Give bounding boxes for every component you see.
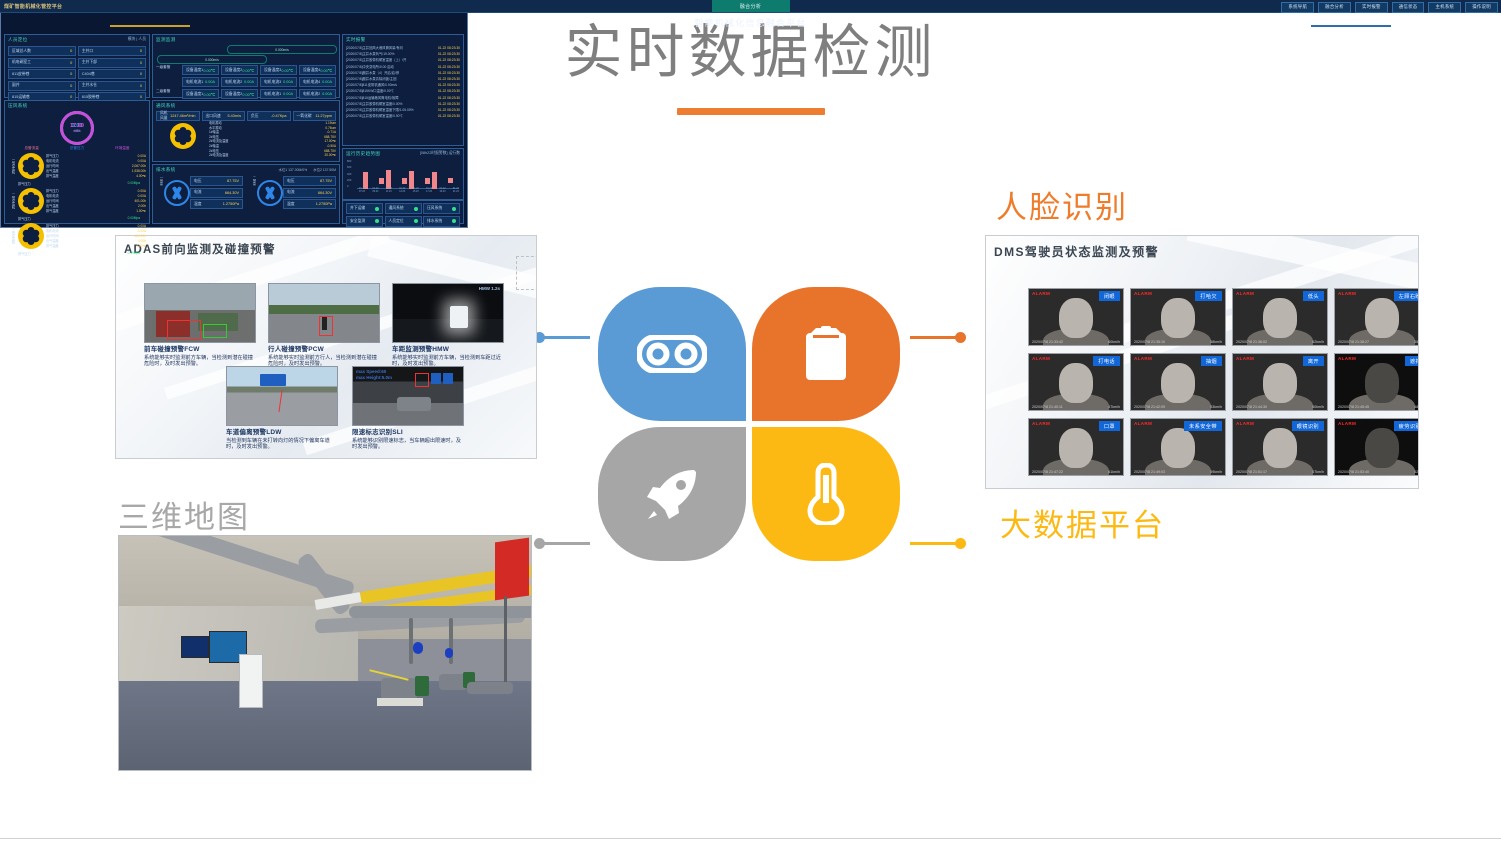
airflow-cell: 设备温度20.00℃ — [221, 89, 258, 99]
subsystem-status-item[interactable]: 通风系统 — [385, 203, 422, 214]
dms-thumbnail[interactable]: ALARM疲劳识别2020/07/8 21:53:4052km/h — [1334, 418, 1419, 476]
adas-item: 前车碰撞预警FCW 系统能够实时监测前方车辆，当检测到潜在碰撞危险时，及时发出预… — [144, 283, 256, 368]
pump-metric: 电压87.75V — [283, 176, 336, 186]
personnel-value: 0 — [140, 84, 142, 88]
alarm-label: ALARM — [1032, 421, 1050, 426]
petal-logo — [598, 287, 903, 564]
pump-name: 一号泵 — [156, 176, 164, 186]
airflow-cell: 设备温度40.00℃ — [299, 65, 336, 75]
personnel-value: 0 — [70, 72, 72, 76]
airflow-row: 二级套管设备温度10.00℃设备温度20.00℃电机电流10.00A电机电流20… — [156, 89, 336, 99]
cassette-icon — [637, 335, 707, 373]
adas-description: 当检测到车辆在未打转向灯的情况下偏离车道时，及时发出预警。 — [226, 438, 338, 451]
history-chart: 8006004002000 01-22 07:2301-22 09:2301-2… — [347, 160, 459, 195]
drain-tag: 水位2 137.50M — [313, 167, 336, 172]
status-dot — [414, 207, 418, 211]
dms-thumbnail[interactable]: ALARM低头2020/07/8 21:36:0262km/h — [1232, 288, 1328, 346]
subsystem-name: 通风系统 — [389, 206, 404, 211]
alarm-label: ALARM — [1236, 356, 1254, 361]
dashboard-nav-item[interactable]: 操作说明 — [1465, 2, 1498, 13]
panel-title: 运行历史趋势图 — [346, 151, 380, 157]
rocket-icon — [644, 466, 700, 522]
panel-ventilation: 通风系统 风机风量1247.46m³/min出口风速5.43m/s负压-0.47… — [152, 100, 340, 162]
dms-speed: 57km/h — [1312, 470, 1324, 474]
dms-event-badge: 遮挡 — [1405, 356, 1419, 366]
gauge-label: 总管压力 — [55, 146, 99, 151]
dms-timestamp: 2020/07/8 21:38:27 — [1338, 340, 1369, 344]
alarm-message: [2020/07/8]主井胶带机硐室温度/0.00℃ — [346, 113, 403, 119]
gauge-unit: ℃ — [75, 129, 79, 133]
dashboard-nav-item[interactable]: 系统导航 — [1281, 2, 1314, 13]
status-dot — [452, 219, 456, 223]
dms-thumbnail[interactable]: ALARM打电话2020/07/8 21:40:1147km/h — [1028, 353, 1124, 411]
subsystem-status-item[interactable]: 压风系统 — [423, 203, 460, 214]
airflow-cell: 电机电流30.00A — [260, 77, 297, 87]
chart-y-tick: 600 — [347, 166, 351, 169]
personnel-row: 区域总人数0 — [8, 46, 76, 56]
thermometer-petal[interactable] — [752, 427, 900, 561]
alarm-label: ALARM — [1338, 421, 1356, 426]
section-heading-face: 人脸识别 — [996, 182, 1128, 227]
personnel-key: C404巷 — [82, 72, 95, 77]
airflow-cell: 电机电流10.00A — [260, 89, 297, 99]
compressor-metric: 排气温度1.00℃ — [46, 209, 146, 214]
dashboard-nav-item[interactable]: 主机系统 — [1428, 2, 1461, 13]
personnel-value: 0 — [70, 49, 72, 53]
slide-root: 实时数据检测 车辆管理 人脸识别 三维地图 大数据平台 — [0, 0, 1501, 842]
compressor-unit: 一号空压机排气压力0.00A电机电流0.00A运行时间2,067.00h出气温度… — [8, 153, 146, 179]
personnel-key: 区域总人数 — [12, 49, 31, 54]
subsystem-name: 压风系统 — [427, 206, 442, 211]
gauge-label: 环境温度 — [100, 146, 144, 151]
personnel-row: 主井口0 — [78, 46, 146, 56]
dms-event-badge: 打哈欠 — [1195, 291, 1222, 301]
personnel-key: 主井水仓 — [82, 83, 97, 88]
personnel-key: 811皮带巷 — [12, 72, 29, 77]
airflow-cell: 设备温度10.00℃ — [182, 65, 219, 75]
airflow-cell: 电机电流20.00A — [299, 89, 336, 99]
status-dot — [414, 219, 418, 223]
connector-face — [910, 336, 962, 339]
dms-timestamp: 2020/07/8 21:36:02 — [1236, 340, 1267, 344]
pump-name: 二号泵 — [249, 176, 257, 186]
chart-x-tick: 01-22 19:23 — [439, 187, 445, 195]
panel-monitoring: 监测监测 0.000m/s 0.000m/s 一级套管设备温度10.00℃设备温… — [152, 34, 340, 98]
dms-event-badge: 口罩 — [1099, 421, 1120, 431]
adas-caption: 车道偏离预警LDW — [226, 429, 338, 437]
dashboard-center-tab[interactable]: 融合分析 — [712, 0, 790, 12]
connector-vehicle — [538, 336, 590, 339]
dms-timestamp: 2020/07/8 21:40:11 — [1032, 405, 1063, 409]
dms-event-badge: 离开 — [1303, 356, 1324, 366]
chart-y-tick: 800 — [347, 160, 351, 163]
pump-metric: 温度1.2750Pa — [190, 199, 243, 209]
alarm-label: ALARM — [1032, 291, 1050, 296]
chart-x-tick: 01-22 15:23 — [413, 187, 419, 195]
dashboard-topbar: 煤矿智能机械化管控平台 融合分析 系统导航融合分析实时报警通信状态主机系统操作说… — [0, 0, 1501, 13]
airflow-row-label — [156, 77, 180, 87]
status-dot — [452, 207, 456, 211]
chart-bar — [381, 178, 384, 184]
drain-tag: 水位1 137.00M/0% — [279, 167, 308, 172]
vent-header-cell: 一氧化碳11.27ppm — [293, 111, 337, 121]
adas-thumb-image — [268, 283, 380, 343]
airflow-cell: 电机电流10.00A — [182, 77, 219, 87]
dms-timestamp: 2020/07/8 21:53:40 — [1338, 470, 1369, 474]
compressor-fan-icon — [18, 223, 44, 249]
compressor-footer: 排气压力0.00Mpa — [8, 216, 146, 223]
subsystem-name: 安全监测 — [350, 219, 365, 224]
pump-fan-icon — [257, 180, 283, 206]
panel-drainage: 排水系统 水位1 137.00M/0%水位2 137.50M 一号泵电压87.7… — [152, 164, 340, 224]
adas-item: 行人碰撞预警PCW 系统能够实时监测前方行人，当检测到潜在碰撞危险时，及时发出预… — [268, 283, 380, 368]
adas-item: HMW 1.2s 车距监测预警HMW 系统能够实时监测前方车辆，当检测到车距过近… — [392, 283, 504, 368]
driver-face — [1161, 428, 1195, 468]
dms-timestamp: 2020/07/8 21:45:45 — [1338, 405, 1369, 409]
panel-subsystem-status: 井下运输通风系统压风系统安全监测人员定位排水系统 — [342, 200, 464, 224]
dashboard-nav-list: 系统导航融合分析实时报警通信状态主机系统操作说明 — [1281, 2, 1498, 13]
pump-fan-icon — [164, 180, 190, 206]
panel-history-chart: 运行历史趋势图 [08h22时报警数] 运行数 8006004002000 01… — [342, 148, 464, 200]
personnel-value: 0 — [140, 49, 142, 53]
adas-overlay-height: max Height:5.0m — [356, 375, 392, 380]
dms-thumbnail[interactable]: ALARM眼镜识别2020/07/8 21:51:1757km/h — [1232, 418, 1328, 476]
adas-caption: 限速标志识别SLI — [352, 429, 464, 437]
dms-timestamp: 2020/07/8 21:49:03 — [1134, 470, 1165, 474]
dms-event-badge: 眼镜识别 — [1292, 421, 1324, 431]
alarm-label: ALARM — [1338, 356, 1356, 361]
driver-face — [1365, 298, 1399, 338]
panel-title: 实时报警 — [346, 37, 366, 43]
dashboard-nav-item[interactable]: 实时报警 — [1355, 2, 1388, 13]
connector-dot-bigdata — [955, 538, 966, 549]
personnel-key: 815运输巷 — [12, 95, 30, 100]
airflow-cell: 电机电流20.00A — [221, 77, 258, 87]
driver-face — [1059, 363, 1093, 403]
dms-thumbnail[interactable]: ALARM口罩2020/07/8 21:47:2261km/h — [1028, 418, 1124, 476]
adas-item: max Speed:60 max Height:5.0m 限速标志识别SLI 系… — [352, 366, 464, 451]
driver-face — [1263, 428, 1297, 468]
rocket-petal[interactable] — [598, 427, 746, 561]
panel-tag: 模块 | 人员 — [128, 37, 146, 42]
alarm-label: ALARM — [1134, 356, 1152, 361]
subsystem-name: 排水系统 — [427, 219, 442, 224]
pump-metric: 电流664.30V — [190, 188, 243, 198]
connector-map — [538, 542, 590, 545]
airflow-row: 一级套管设备温度10.00℃设备温度20.00℃设备温度30.00℃设备温度40… — [156, 65, 336, 75]
driver-face — [1263, 363, 1297, 403]
chart-x-tick: 01-22 17:23 — [426, 187, 432, 195]
personnel-row: 副井0 — [8, 81, 76, 91]
dms-speed: 48km/h — [1414, 405, 1419, 409]
fan-icon — [170, 123, 196, 149]
dashboard-nav-item[interactable]: 融合分析 — [1318, 2, 1351, 13]
dms-speed: 52km/h — [1414, 470, 1419, 474]
personnel-row: C404巷0 — [78, 69, 146, 79]
airflow-cell: 设备温度10.00℃ — [182, 89, 219, 99]
driver-face — [1365, 428, 1399, 468]
vent-header-cell: 出口风速5.43m/s — [202, 111, 246, 121]
compressor-footer: 排气压力0.19Mpa — [8, 251, 146, 258]
dms-timestamp: 2020/07/8 21:35:10 — [1134, 340, 1165, 344]
chart-x-tick: 01-22 11:23 — [386, 187, 392, 195]
personnel-value: 0 — [70, 61, 72, 65]
airflow-speed-right: 0.000m/s — [227, 45, 337, 54]
personnel-value: 0 — [70, 95, 72, 99]
connector-bigdata — [910, 542, 962, 545]
panel-title: 人员定位 — [8, 37, 28, 43]
adas-item: 车道偏离预警LDW 当检测到车辆在未打转向灯的情况下偏离车道时，及时发出预警。 — [226, 366, 338, 451]
personnel-row: 机电硐室工0 — [8, 58, 76, 68]
driver-face — [1161, 363, 1195, 403]
subsystem-status-item[interactable]: 排水系统 — [423, 216, 460, 227]
personnel-value: 0 — [140, 61, 142, 65]
dms-event-badge: 低头 — [1303, 291, 1324, 301]
chart-bar — [389, 170, 392, 188]
pump-metric: 温度1.2750Pa — [283, 199, 336, 209]
personnel-key: 815胶带巷 — [82, 95, 100, 100]
alarm-log-table[interactable]: [2020/07/8]主井回风大巷风筒风量/有问01-22 08:23:30[2… — [346, 45, 460, 119]
status-dot — [375, 207, 379, 211]
personnel-row: 811皮带巷0 — [8, 69, 76, 79]
personnel-row: 主井下部0 — [78, 58, 146, 68]
adas-description: 系统能够识别限速标志，当车辆超出限速时，及时发出预警。 — [352, 438, 464, 451]
personnel-value: 0 — [70, 84, 72, 88]
adas-overlay-speed: max Speed:60 — [356, 369, 386, 374]
dms-timestamp: 2020/07/8 21:44:30 — [1236, 405, 1267, 409]
personnel-key: 机电硐室工 — [12, 60, 31, 65]
drain-pump: 一号泵电压87.75V电流664.30V温度1.2750Pa — [156, 176, 243, 211]
chart-legend: [08h22时报警数] 运行数 — [420, 151, 460, 156]
driver-face — [1365, 363, 1399, 403]
section-heading-bigdata: 大数据平台 — [1000, 500, 1165, 545]
slide-bottom-rule — [0, 838, 1501, 839]
dms-thumbnail[interactable]: ALARM离开2020/07/8 21:44:3050km/h — [1232, 353, 1328, 411]
adas-dashed-placeholder — [516, 256, 537, 290]
personnel-key: 主井口 — [82, 49, 93, 54]
driver-face — [1059, 298, 1093, 338]
subsystem-status-item[interactable]: 人员定位 — [385, 216, 422, 227]
dms-event-badge: 疲劳识别 — [1394, 421, 1419, 431]
chart-x-tick: 01-22 07:23 — [359, 187, 365, 195]
dms-event-badge: 闭眼 — [1099, 291, 1120, 301]
bigdata-dashboard-card: 煤矿智能机械化管控平台 融合分析 系统导航融合分析实时报警通信状态主机系统操作说… — [0, 0, 468, 228]
panel-compressed-air: 压风系统 0.00m3/h0.00MPa17.00℃ 总管流量总管压力环境温度 … — [4, 100, 150, 224]
dms-thumbnail[interactable]: ALARM左顾右盼2020/07/8 21:38:2755km/h — [1334, 288, 1419, 346]
clipboard-icon — [804, 326, 848, 382]
panel-title: 通风系统 — [156, 103, 176, 109]
adas-card-title: ADAS前向监测及碰撞预警 — [124, 241, 276, 257]
adas-screenshot-card: ADAS前向监测及碰撞预警 前车碰撞预警FCW 系统能够实时监测前方车辆，当检测… — [115, 235, 537, 459]
adas-caption: 前车碰撞预警FCW — [144, 346, 256, 354]
compressor-unit: 二号空压机排气压力0.00A电机电流0.00A运行时间401.00h出气温度2.… — [8, 188, 146, 214]
dms-speed: 55km/h — [1414, 340, 1419, 344]
alarm-label: ALARM — [1134, 291, 1152, 296]
dashboard-logo: 煤矿智能机械化管控平台 — [4, 3, 62, 10]
airflow-speed-left: 0.000m/s — [157, 55, 267, 64]
airflow-cell: 电机电流40.00A — [299, 77, 336, 87]
map-3d-scene — [119, 536, 531, 770]
driver-face — [1161, 298, 1195, 338]
gauge-label: 总管流量 — [10, 146, 54, 151]
dashboard-rule-left — [110, 25, 190, 27]
dms-event-badge: 抽烟 — [1201, 356, 1222, 366]
gauge: 17.00℃ — [60, 111, 94, 145]
chart-bar — [404, 178, 407, 184]
subsystem-status-item[interactable]: 井下运输 — [346, 203, 383, 214]
compressor-metric: 排气温度4.00℃ — [46, 174, 146, 179]
adas-caption: 行人碰撞预警PCW — [268, 346, 380, 354]
dms-thumbnail[interactable]: ALARM闭眼2020/07/8 21:33:4260km/h — [1028, 288, 1124, 346]
dms-timestamp: 2020/07/8 21:33:42 — [1032, 340, 1063, 344]
dashboard-heading: 智能机械化信息融合平台 — [0, 16, 1501, 29]
driver-face — [1059, 428, 1093, 468]
dashboard-nav-item[interactable]: 通信状态 — [1392, 2, 1425, 13]
personnel-key: 主井下部 — [82, 60, 97, 65]
thermometer-icon — [805, 463, 847, 525]
dms-thumbnail-grid: ALARM闭眼2020/07/8 21:33:4260km/hALARM打哈欠2… — [1028, 288, 1419, 476]
chart-x-tick: 01-22 09:23 — [372, 187, 378, 195]
adas-thumb-image — [226, 366, 338, 426]
dms-speed: 47km/h — [1108, 405, 1120, 409]
connector-dot-map — [534, 538, 545, 549]
dms-timestamp: 2020/07/8 21:51:17 — [1236, 470, 1267, 474]
adas-row-top: 前车碰撞预警FCW 系统能够实时监测前方车辆，当检测到潜在碰撞危险时，及时发出预… — [144, 283, 504, 368]
dms-timestamp: 2020/07/8 21:47:22 — [1032, 470, 1063, 474]
subsystem-name: 人员定位 — [389, 219, 404, 224]
dms-event-badge: 未系安全带 — [1184, 421, 1222, 431]
alarm-label: ALARM — [1338, 291, 1356, 296]
compressor-fan-icon — [18, 153, 44, 179]
section-heading-map: 三维地图 — [118, 492, 250, 537]
compressor-metric: 排气温度4.00℃ — [46, 244, 146, 249]
dms-speed: 53km/h — [1210, 405, 1222, 409]
pump-metric: 电流664.30V — [283, 188, 336, 198]
dms-event-badge: 打电话 — [1093, 356, 1120, 366]
dashboard-rule-right — [1311, 25, 1391, 27]
vent-header-cell: 风机风量1247.46m³/min — [156, 111, 200, 121]
chart-x-tick: 01-22 13:23 — [399, 187, 405, 195]
panel-title: 压风系统 — [8, 103, 28, 109]
subsystem-status-item[interactable]: 安全监测 — [346, 216, 383, 227]
dms-card-title: DMS驾驶员状态监测及预警 — [994, 243, 1159, 260]
vent-header-cell: 负压-0.47Kpa — [247, 111, 291, 121]
title-underline-rule — [677, 108, 825, 115]
compressor-footer: 排气压力0.00Mpa — [8, 181, 146, 188]
dms-speed: 50km/h — [1312, 405, 1324, 409]
dms-speed: 60km/h — [1108, 340, 1120, 344]
chart-bar — [427, 178, 430, 184]
compressor-fan-icon — [18, 188, 44, 214]
airflow-cell: 设备温度30.00℃ — [260, 65, 297, 75]
alarm-log-row[interactable]: [2020/07/8]主井胶带机硐室温度/0.00℃01-22 08:23:30 — [346, 113, 460, 119]
clipboard-petal[interactable] — [752, 287, 900, 421]
personnel-key: 副井 — [12, 83, 20, 88]
compressor-name: 一号空压机 — [8, 158, 16, 174]
dms-speed: 62km/h — [1312, 340, 1324, 344]
chart-y-tick: 0 — [347, 185, 348, 188]
chart-x-tick: 01-22 21:23 — [453, 187, 459, 195]
dms-event-badge: 左顾右盼 — [1394, 291, 1419, 301]
compressor-unit: 三号空压机排气压力0.00A电机电流0.00A运行时间426.00h出气温度4.… — [8, 223, 146, 249]
dms-thumbnail[interactable]: ALARM遮挡2020/07/8 21:45:4548km/h — [1334, 353, 1419, 411]
adas-thumb-image: HMW 1.2s — [392, 283, 504, 343]
voicemail-petal[interactable] — [598, 287, 746, 421]
vent-metric: 2#电流及温度20.00℃ — [209, 153, 336, 158]
dms-speed: 58km/h — [1210, 340, 1222, 344]
status-dot — [375, 219, 379, 223]
dms-thumbnail[interactable]: ALARM打哈欠2020/07/8 21:35:1058km/h — [1130, 288, 1226, 346]
panel-title: 排水系统 — [156, 167, 176, 173]
dms-thumbnail[interactable]: ALARM抽烟2020/07/8 21:42:0953km/h — [1130, 353, 1226, 411]
chart-y-tick: 400 — [347, 173, 351, 176]
chart-bar — [450, 178, 453, 183]
alarm-time: 01-22 08:23:30 — [438, 113, 460, 119]
adas-thumb-image — [144, 283, 256, 343]
compressor-name: 三号空压机 — [8, 228, 16, 244]
dms-screenshot-card: DMS驾驶员状态监测及预警 ALARM闭眼2020/07/8 21:33:426… — [985, 235, 1419, 489]
pump-metric: 电压87.75V — [190, 176, 243, 186]
compressor-name: 二号空压机 — [8, 193, 16, 209]
airflow-row: 电机电流10.00A电机电流20.00A电机电流30.00A电机电流40.00A — [156, 77, 336, 87]
chart-y-tick: 200 — [347, 179, 351, 182]
map-screenshot-card — [118, 535, 532, 771]
subsystem-name: 井下运输 — [350, 206, 365, 211]
dms-speed: 61km/h — [1108, 470, 1120, 474]
dms-thumbnail[interactable]: ALARM未系安全带2020/07/8 21:49:0359km/h — [1130, 418, 1226, 476]
panel-alarm-log: 实时报警 [2020/07/8]主井回风大巷风筒风量/有问01-22 08:23… — [342, 34, 464, 146]
airflow-row-label: 二级套管 — [156, 89, 180, 99]
adas-thumb-image: max Speed:60 max Height:5.0m — [352, 366, 464, 426]
personnel-value: 0 — [140, 72, 142, 76]
airflow-cell: 设备温度20.00℃ — [221, 65, 258, 75]
alarm-label: ALARM — [1032, 356, 1050, 361]
dms-speed: 59km/h — [1210, 470, 1222, 474]
personnel-row: 主井水仓0 — [78, 81, 146, 91]
airflow-row-label: 一级套管 — [156, 65, 180, 75]
adas-row-bottom: 车道偏离预警LDW 当检测到车辆在未打转向灯的情况下偏离车道时，及时发出预警。 … — [226, 366, 464, 451]
panel-title: 监测监测 — [156, 37, 176, 43]
personnel-value: 0 — [140, 95, 142, 99]
adas-caption: 车距监测预警HMW — [392, 346, 504, 354]
alarm-label: ALARM — [1134, 421, 1152, 426]
alarm-label: ALARM — [1236, 291, 1254, 296]
drain-pump: 二号泵电压87.75V电流664.30V温度1.2750Pa — [249, 176, 336, 211]
driver-face — [1263, 298, 1297, 338]
alarm-label: ALARM — [1236, 421, 1254, 426]
panel-personnel: 人员定位 模块 | 人员 区域总人数0主井口0机电硐室工0主井下部0811皮带巷… — [4, 34, 150, 98]
connector-dot-face — [955, 332, 966, 343]
dms-timestamp: 2020/07/8 21:42:09 — [1134, 405, 1165, 409]
